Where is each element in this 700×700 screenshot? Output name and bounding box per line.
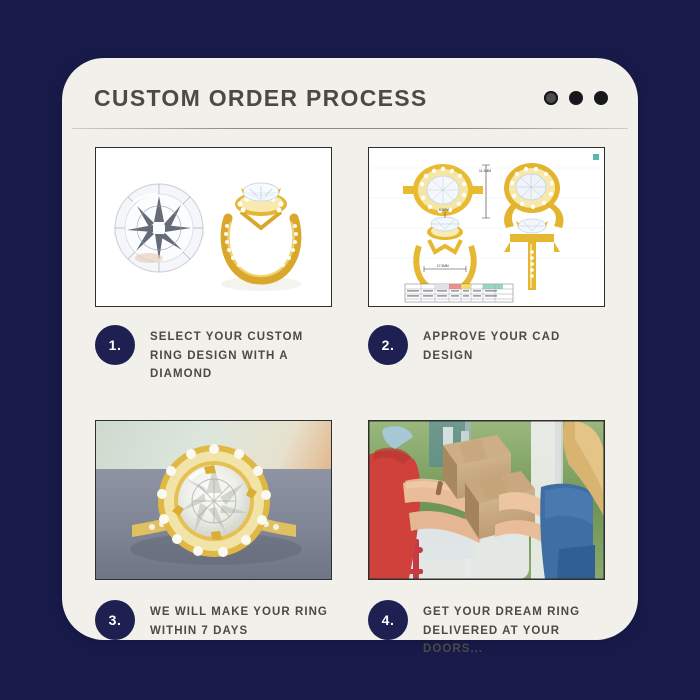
- step-4-caption: 4. GET YOUR DREAM RING DELIVERED AT YOUR…: [368, 600, 605, 659]
- step-4-text: GET YOUR DREAM RING DELIVERED AT YOUR DO…: [423, 600, 605, 659]
- step-3-image[interactable]: [95, 420, 332, 580]
- step-1-text: SELECT YOUR CUSTOM RING DESIGN WITH A DI…: [150, 325, 332, 384]
- window-dot-1-icon[interactable]: [544, 91, 558, 105]
- step-4-image[interactable]: [368, 420, 605, 580]
- window-dots: [544, 91, 608, 105]
- step-card-1: 1. SELECT YOUR CUSTOM RING DESIGN WITH A…: [95, 147, 332, 384]
- steps-grid: 1. SELECT YOUR CUSTOM RING DESIGN WITH A…: [95, 147, 605, 659]
- card-header: CUSTOM ORDER PROCESS: [62, 58, 638, 130]
- step-card-2: 11.2MM: [368, 147, 605, 384]
- step-card-4: 4. GET YOUR DREAM RING DELIVERED AT YOUR…: [368, 420, 605, 659]
- window-dot-2-icon[interactable]: [569, 91, 583, 105]
- step-3-badge: 3.: [95, 600, 135, 640]
- svg-text:17.3MM: 17.3MM: [437, 264, 449, 268]
- header-divider: [72, 128, 628, 129]
- step-2-image[interactable]: 11.2MM: [368, 147, 605, 307]
- step-1-image[interactable]: [95, 147, 332, 307]
- infographic-page: CUSTOM ORDER PROCESS: [0, 0, 700, 700]
- window-dot-3-icon[interactable]: [594, 91, 608, 105]
- step-card-3: 3. WE WILL MAKE YOUR RING WITHIN 7 DAYS: [95, 420, 332, 659]
- step-1-badge: 1.: [95, 325, 135, 365]
- step-2-text: APPROVE YOUR CAD DESIGN: [423, 325, 605, 365]
- svg-text:11.2MM: 11.2MM: [479, 169, 491, 173]
- step-2-badge: 2.: [368, 325, 408, 365]
- step-3-text: WE WILL MAKE YOUR RING WITHIN 7 DAYS: [150, 600, 332, 640]
- step-4-badge: 4.: [368, 600, 408, 640]
- step-3-caption: 3. WE WILL MAKE YOUR RING WITHIN 7 DAYS: [95, 600, 332, 640]
- step-2-caption: 2. APPROVE YOUR CAD DESIGN: [368, 325, 605, 365]
- svg-text:8.0MM: 8.0MM: [439, 208, 449, 212]
- process-card: CUSTOM ORDER PROCESS: [62, 58, 638, 640]
- page-title: CUSTOM ORDER PROCESS: [94, 85, 428, 112]
- step-1-caption: 1. SELECT YOUR CUSTOM RING DESIGN WITH A…: [95, 325, 332, 384]
